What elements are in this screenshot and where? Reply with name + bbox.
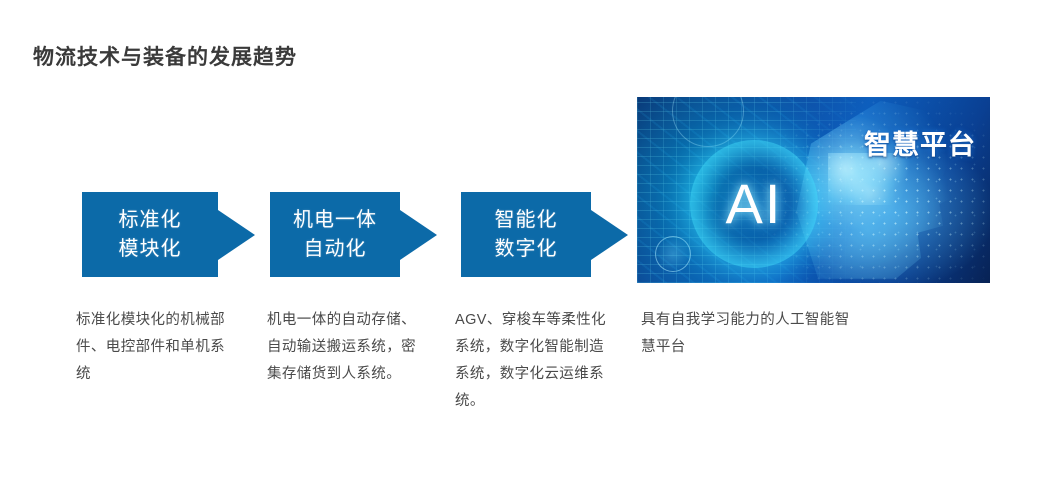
smart-platform-label: 智慧平台: [864, 123, 976, 162]
flow-step-standardization[interactable]: 标准化 模块化: [82, 192, 218, 277]
flow-step-caption: AGV、穿梭车等柔性化系统，数字化智能制造系统，数字化云运维系统。: [455, 307, 607, 415]
flow-step-label: 标准化 模块化: [82, 206, 218, 264]
process-flow-diagram: 标准化 模块化 机电一体 自动化 智能化 数字化 AI 智慧平台 标准化模块化的…: [0, 0, 1053, 487]
decorative-circle-icon: [655, 236, 691, 272]
flow-step-mechatronics[interactable]: 机电一体 自动化: [270, 192, 400, 277]
ai-label: AI: [690, 140, 818, 268]
flow-step-label: 机电一体 自动化: [270, 206, 400, 264]
flow-step-caption: 机电一体的自动存储、自动输送搬运系统，密集存储货到人系统。: [267, 307, 417, 388]
flow-step-caption: 标准化模块化的机械部件、电控部件和单机系统: [76, 307, 236, 388]
ai-platform-image: AI 智慧平台: [637, 97, 990, 283]
flow-step-label: 智能化 数字化: [461, 206, 591, 264]
arrow-right-icon: [591, 210, 628, 260]
flow-step-intelligent[interactable]: 智能化 数字化: [461, 192, 591, 277]
flow-step-caption: 具有自我学习能力的人工智能智慧平台: [641, 307, 861, 361]
arrow-right-icon: [400, 210, 437, 260]
arrow-right-icon: [218, 210, 255, 260]
